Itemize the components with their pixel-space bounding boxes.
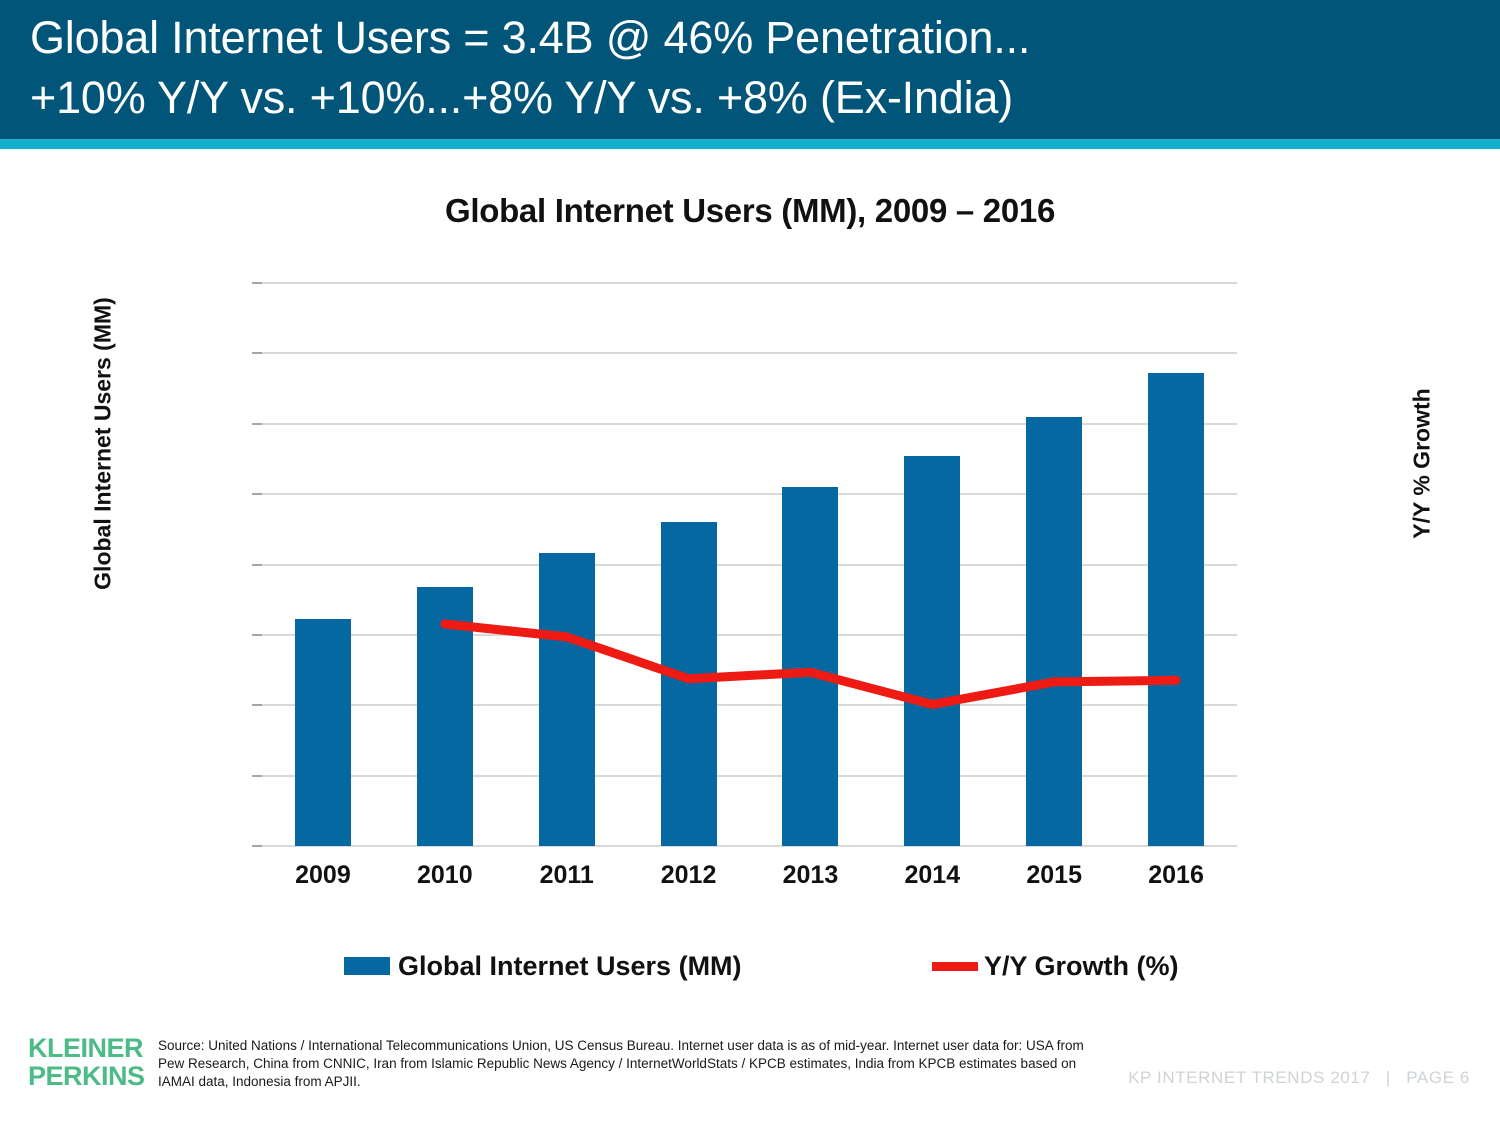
x-axis-label-2013: 2013 <box>745 861 875 890</box>
y-axis-left-title: Global Internet Users (MM) <box>90 279 117 609</box>
legend-label-users: Global Internet Users (MM) <box>398 951 742 982</box>
chart-legend: Global Internet Users (MM) Y/Y Growth (%… <box>262 946 1237 986</box>
x-axis-label-2009: 2009 <box>258 861 388 890</box>
y-axis-left-tick <box>252 775 262 777</box>
footer-separator: | <box>1376 1068 1401 1087</box>
source-note: Source: United Nations / International T… <box>158 1037 1108 1090</box>
y-axis-left-tick <box>252 704 262 706</box>
x-axis-label-2012: 2012 <box>624 861 754 890</box>
legend-label-growth: Y/Y Growth (%) <box>984 951 1179 982</box>
legend-swatch-line-icon <box>932 962 978 971</box>
legend-item-growth[interactable]: Y/Y Growth (%) <box>932 946 1179 986</box>
x-axis-label-2014: 2014 <box>867 861 997 890</box>
x-axis-label-2015: 2015 <box>989 861 1119 890</box>
y-axis-left-tick <box>252 352 262 354</box>
legend-swatch-bar-icon <box>344 957 390 975</box>
y-axis-left-tick <box>252 423 262 425</box>
y-axis-left-tick <box>252 282 262 284</box>
page-number: PAGE 6 <box>1406 1068 1470 1087</box>
growth-line-series <box>262 283 1237 846</box>
x-axis-label-2010: 2010 <box>380 861 510 890</box>
y-axis-left-tick <box>252 564 262 566</box>
y-axis-right-title: Y/Y % Growth <box>1409 314 1436 614</box>
logo-line-2: PERKINS <box>28 1063 158 1091</box>
y-axis-left-tick <box>252 634 262 636</box>
logo-line-1: KLEINER <box>28 1035 158 1063</box>
kleiner-perkins-logo: KLEINER PERKINS <box>28 1035 158 1090</box>
page-footer: KP INTERNET TRENDS 2017 | PAGE 6 <box>1128 1068 1470 1088</box>
y-axis-left-tick <box>252 845 262 847</box>
x-axis-label-2011: 2011 <box>502 861 632 890</box>
x-axis-label-2016: 2016 <box>1111 861 1241 890</box>
deck-label: KP INTERNET TRENDS 2017 <box>1128 1068 1370 1087</box>
legend-item-users[interactable]: Global Internet Users (MM) <box>344 946 742 986</box>
y-axis-left-tick <box>252 493 262 495</box>
